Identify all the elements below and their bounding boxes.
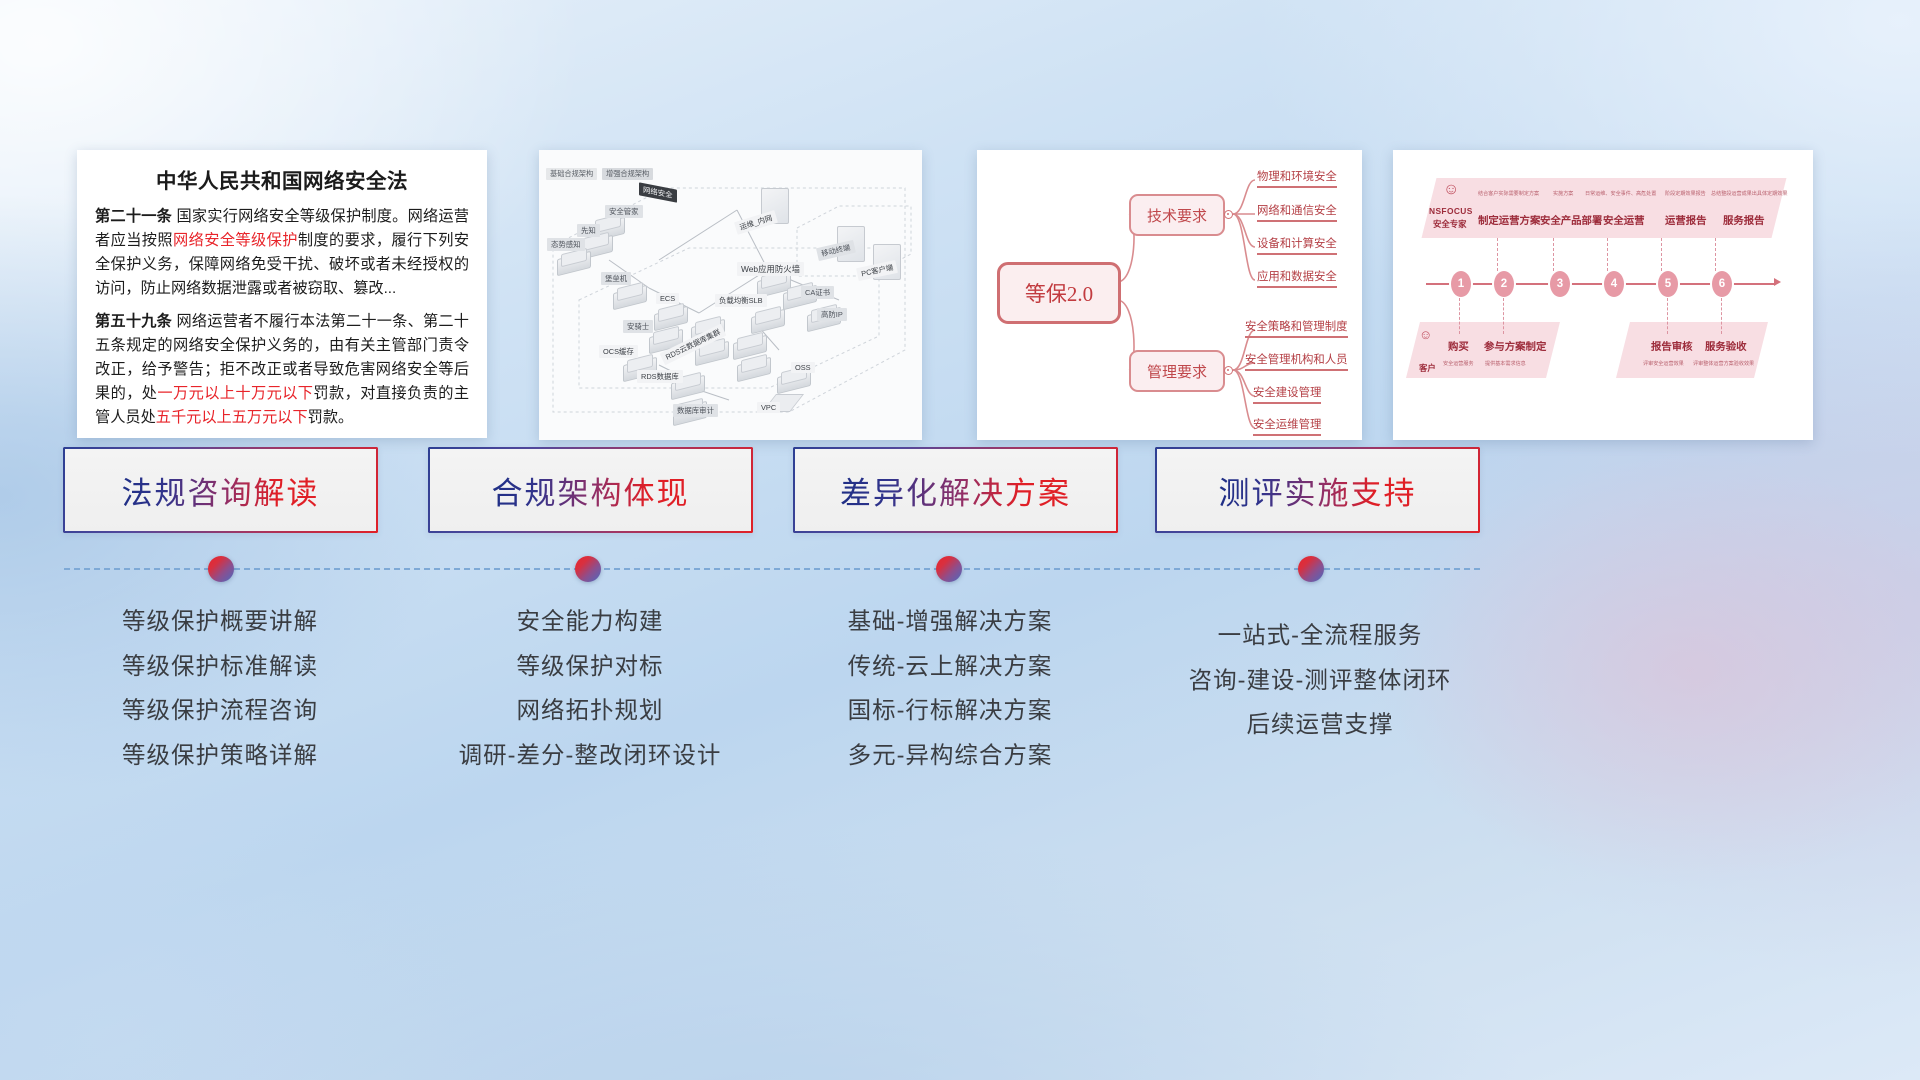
label-database-audit: 数据库审计 — [673, 404, 718, 417]
top-title-5: 服务报告 — [1723, 212, 1765, 227]
list-item: 等级保护流程咨询 — [40, 689, 400, 734]
label-xianzhi: 先知 — [577, 224, 600, 237]
label-ca-certificate: CA证书 — [801, 286, 834, 299]
mindmap-leaf-application: 应用和数据安全 — [1257, 268, 1337, 288]
expert-avatar-icon: ☺ — [1443, 182, 1459, 198]
list-item: 等级保护概要讲解 — [40, 600, 400, 645]
article-59-label: 第五十九条 — [95, 313, 172, 330]
card-cybersecurity-law[interactable]: 中华人民共和国网络安全法 第二十一条 国家实行网络安全等级保护制度。网络运营者应… — [77, 150, 487, 438]
expert-label-line2: 安全专家 — [1433, 218, 1467, 230]
feature-list-3: 基础-增强解决方案 传统-云上解决方案 国标-行标解决方案 多元-异构综合方案 — [770, 600, 1130, 778]
step-2[interactable]: 2 — [1494, 271, 1514, 297]
feature-list-2: 安全能力构建 等级保护对标 网络拓扑规划 调研-差分-整改闭环设计 — [410, 600, 770, 778]
bottom-sub-2: 提供基本需求信息 — [1485, 360, 1526, 367]
bottom-sub-1: 安全运营服务 — [1443, 360, 1474, 367]
law-article-59: 第五十九条 网络运营者不履行本法第二十一条、第二十五条规定的网络安全保护义务的，… — [95, 310, 469, 430]
label-security-butler: 安全管家 — [605, 205, 643, 218]
tab-basic-compliance[interactable]: 基础合规架构 — [546, 168, 597, 180]
tab-enhanced-compliance[interactable]: 增强合规架构 — [602, 168, 653, 180]
timeline-arrow-icon — [1774, 278, 1781, 286]
top-title-2: 安全产品部署 — [1540, 212, 1602, 227]
mindmap-leaf-policy: 安全策略和管理制度 — [1245, 318, 1348, 338]
mindmap-leaf-physical: 物理和环境安全 — [1257, 168, 1337, 188]
label-vpc: VPC — [757, 402, 780, 413]
step-6[interactable]: 6 — [1712, 271, 1732, 297]
law-title: 中华人民共和国网络安全法 — [95, 164, 469, 194]
label-anqishi: 安骑士 — [623, 320, 653, 333]
step-3[interactable]: 3 — [1550, 271, 1570, 297]
article-59-part3: 罚款。 — [308, 409, 354, 426]
bottom-title-3: 报告审核 — [1651, 338, 1693, 353]
timeline-dot-3[interactable] — [936, 556, 962, 582]
timeline-dot-1[interactable] — [208, 556, 234, 582]
top-title-1: 制定运营方案 — [1478, 212, 1540, 227]
customer-label: 客户 — [1419, 362, 1436, 374]
nsfocus-top-band — [1422, 178, 1787, 238]
list-item: 传统-云上解决方案 — [770, 645, 1130, 690]
pill-label-2: 合规架构体现 — [492, 468, 690, 513]
article-21-highlight: 网络安全等级保护 — [173, 232, 298, 249]
step-1[interactable]: 1 — [1451, 271, 1471, 297]
card-dengbao-mindmap[interactable]: 等保2.0 技术要求 物理和环境安全 网络和通信安全 设备和计算安全 应用和数据… — [977, 150, 1362, 440]
pill-regulation-consulting[interactable]: 法规咨询解读 — [63, 447, 378, 533]
top-title-3: 安全运营 — [1603, 212, 1645, 227]
card-compliance-architecture[interactable]: 基础合规架构 增强合规架构 网络安全 安全管家 先知 态势感知 堡垒机 ECS … — [539, 150, 922, 440]
feature-list-1: 等级保护概要讲解 等级保护标准解读 等级保护流程咨询 等级保护策略详解 — [40, 600, 400, 778]
mindmap-knob-management[interactable] — [1224, 366, 1233, 375]
label-ocs-cache: OCS缓存 — [599, 345, 638, 358]
list-item: 基础-增强解决方案 — [770, 600, 1130, 645]
list-item: 等级保护策略详解 — [40, 734, 400, 779]
list-item: 网络拓扑规划 — [410, 689, 770, 734]
list-item: 国标-行标解决方案 — [770, 689, 1130, 734]
top-sub-4: 阶段定期效果报告 — [1665, 190, 1706, 197]
pill-compliance-architecture[interactable]: 合规架构体现 — [428, 447, 753, 533]
law-article-21: 第二十一条 国家实行网络安全等级保护制度。网络运营者应当按照网络安全等级保护制度… — [95, 205, 469, 301]
pill-label-1: 法规咨询解读 — [122, 468, 320, 513]
timeline-dot-2[interactable] — [575, 556, 601, 582]
label-rds-database: RDS数据库 — [637, 370, 683, 383]
pill-differentiated-solution[interactable]: 差异化解决方案 — [793, 447, 1118, 533]
card-nsfocus-timeline[interactable]: ☺ NSFOCUS 安全专家 结合客户实际需要制定方案 制定运营方案 实施方案 … — [1393, 150, 1813, 440]
label-waf: Web应用防火墙 — [737, 262, 804, 276]
step-5[interactable]: 5 — [1658, 271, 1678, 297]
top-title-4: 运营报告 — [1665, 212, 1707, 227]
timeline-dot-4[interactable] — [1298, 556, 1324, 582]
top-sub-3: 日常运维、安全事件、高危处置 — [1585, 190, 1656, 197]
mindmap-root: 等保2.0 — [997, 262, 1121, 324]
pill-assessment-support[interactable]: 测评实施支持 — [1155, 447, 1480, 533]
top-sub-5: 总结整段运营成果出具体定期效果 — [1711, 190, 1787, 197]
feature-list-4: 一站式-全流程服务 咨询-建设-测评整体闭环 后续运营支撑 — [1140, 614, 1500, 748]
timeline-dashed-line — [64, 568, 1480, 570]
customer-avatar-icon: ☺ — [1419, 328, 1432, 341]
list-item: 调研-差分-整改闭环设计 — [410, 734, 770, 779]
pill-label-4: 测评实施支持 — [1219, 468, 1417, 513]
bottom-sub-4: 评审整体运营方案验收效果 — [1693, 360, 1754, 367]
expert-label-line1: NSFOCUS — [1429, 206, 1473, 216]
label-oss: OSS — [791, 362, 815, 373]
mindmap-knob-technical[interactable] — [1224, 210, 1233, 219]
architecture-diagram: 基础合规架构 增强合规架构 网络安全 安全管家 先知 态势感知 堡垒机 ECS … — [539, 150, 922, 440]
list-item: 安全能力构建 — [410, 600, 770, 645]
list-item: 等级保护标准解读 — [40, 645, 400, 690]
mindmap-leaf-device: 设备和计算安全 — [1257, 235, 1337, 255]
top-sub-1: 结合客户实际需要制定方案 — [1478, 190, 1539, 197]
pill-label-3: 差异化解决方案 — [840, 468, 1071, 513]
bottom-sub-3: 评审安全运营效果 — [1643, 360, 1684, 367]
mindmap-leaf-operations: 安全运维管理 — [1253, 416, 1321, 436]
label-situational-awareness: 态势感知 — [547, 238, 585, 251]
mindmap: 等保2.0 技术要求 物理和环境安全 网络和通信安全 设备和计算安全 应用和数据… — [977, 150, 1362, 440]
label-anti-ddos-ip: 高防IP — [817, 308, 847, 321]
image-card-row: 中华人民共和国网络安全法 第二十一条 国家实行网络安全等级保护制度。网络运营者应… — [0, 150, 1920, 450]
list-item: 一站式-全流程服务 — [1140, 614, 1500, 659]
label-slb: 负载均衡SLB — [715, 294, 767, 307]
article-59-highlight-2: 五千元以上五万元以下 — [156, 409, 308, 426]
top-sub-2: 实施方案 — [1553, 190, 1573, 197]
list-item: 多元-异构综合方案 — [770, 734, 1130, 779]
nsfocus-process: ☺ NSFOCUS 安全专家 结合客户实际需要制定方案 制定运营方案 实施方案 … — [1393, 150, 1813, 440]
bottom-title-4: 服务验收 — [1705, 338, 1747, 353]
mindmap-branch-management: 管理要求 — [1129, 350, 1225, 392]
mindmap-branch-technical: 技术要求 — [1129, 194, 1225, 236]
mindmap-leaf-network: 网络和通信安全 — [1257, 202, 1337, 222]
article-59-highlight-1: 一万元以上十万元以下 — [157, 385, 313, 402]
step-4[interactable]: 4 — [1604, 271, 1624, 297]
mindmap-leaf-construction: 安全建设管理 — [1253, 384, 1321, 404]
list-item: 咨询-建设-测评整体闭环 — [1140, 659, 1500, 704]
label-bastion-host: 堡垒机 — [601, 272, 631, 285]
list-item: 等级保护对标 — [410, 645, 770, 690]
bottom-title-1: 购买 — [1448, 338, 1469, 353]
article-21-label: 第二十一条 — [95, 208, 172, 225]
label-ecs: ECS — [656, 293, 679, 304]
mindmap-leaf-org: 安全管理机构和人员 — [1245, 351, 1348, 371]
bottom-title-2: 参与方案制定 — [1484, 338, 1546, 353]
list-item: 后续运营支撑 — [1140, 703, 1500, 748]
